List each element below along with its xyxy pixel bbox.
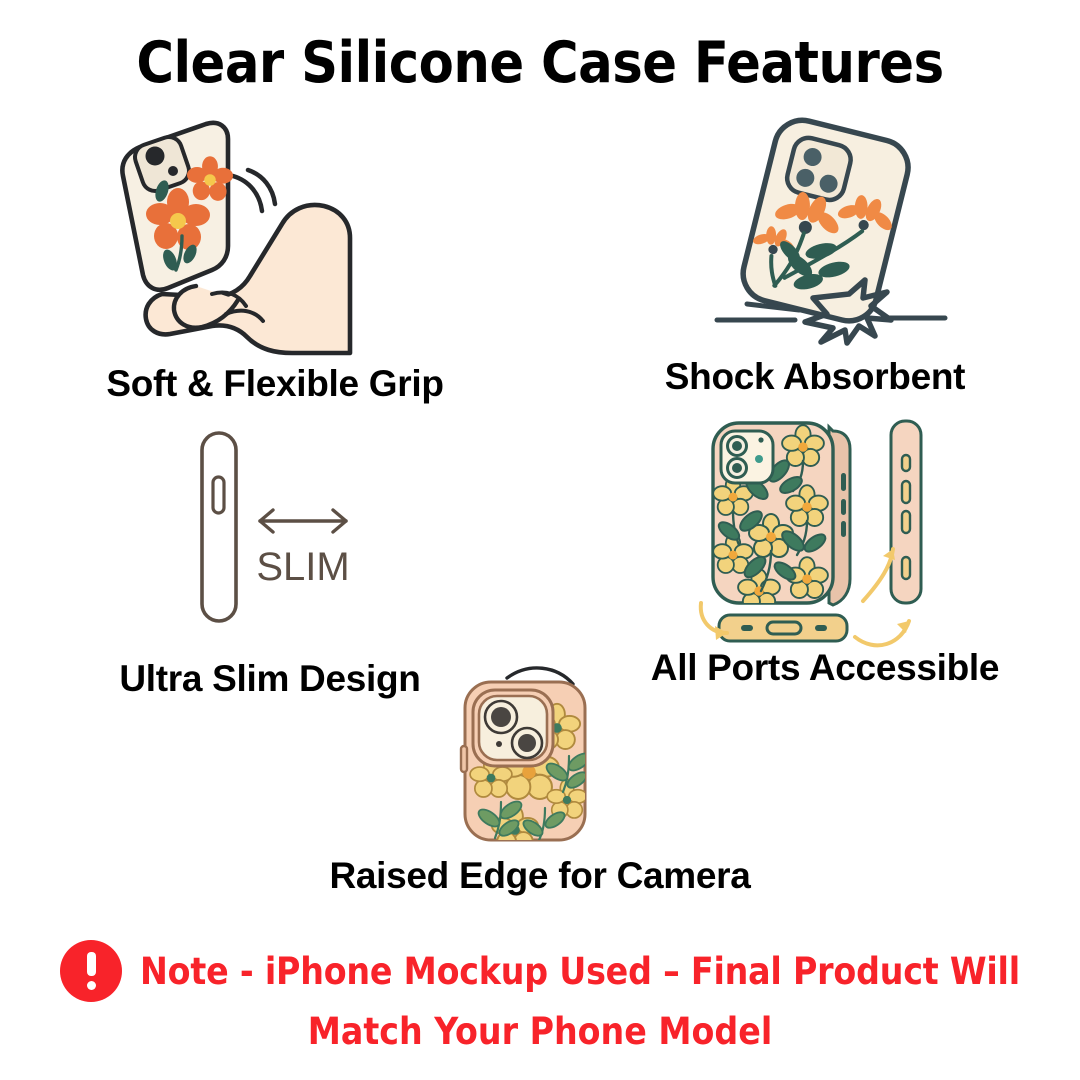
feature-grip: Soft & Flexible Grip [40,118,510,418]
feature-grip-label: Soft & Flexible Grip [40,363,510,405]
note-line-1: Note - iPhone Mockup Used – Final Produc… [140,950,1020,993]
feature-camera-label: Raised Edge for Camera [290,855,790,897]
slim-annotation-text: SLIM [256,545,349,589]
exclamation-circle-icon [60,940,122,1002]
infographic-page: Clear Silicone Case Features [0,0,1080,1080]
phone-camera-bump-icon [445,660,645,840]
phone-dropping-impact-icon [695,118,955,343]
page-title: Clear Silicone Case Features [0,30,1080,96]
note-banner: Note - iPhone Mockup Used – Final Produc… [0,940,1080,1053]
phone-ports-edges-icon [695,415,955,660]
hand-flexing-phone-case-icon [100,118,440,353]
feature-shock: Shock Absorbent [600,118,1030,418]
feature-camera: Raised Edge for Camera [290,660,790,940]
feature-shock-label: Shock Absorbent [600,356,1030,398]
phone-side-profile-icon: SLIM [160,425,390,630]
note-line-2: Match Your Phone Model [308,1010,772,1053]
